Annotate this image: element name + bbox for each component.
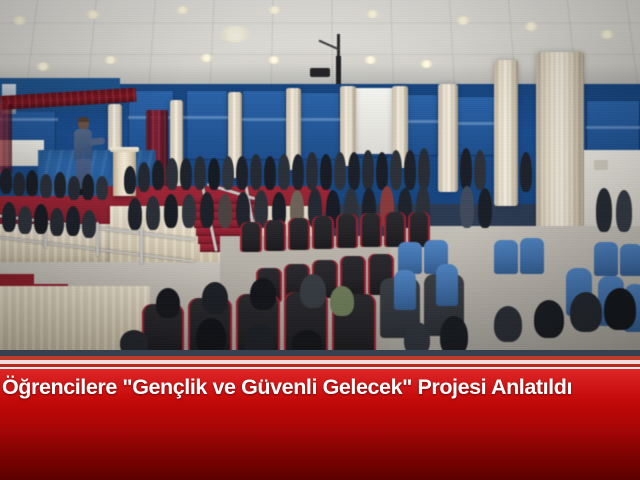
audience-person-foreground — [534, 300, 564, 338]
audience-person — [218, 194, 232, 228]
downlight-icon — [176, 6, 189, 14]
headline-text: Öğrencilere "Gençlik ve Güvenli Gelecek"… — [2, 374, 640, 400]
news-photo-card: Öğrencilere "Gençlik ve Güvenli Gelecek"… — [0, 0, 640, 480]
seat — [336, 214, 358, 248]
downlight-icon — [364, 56, 377, 64]
wall-trim-line — [452, 122, 500, 125]
downlight-icon — [104, 56, 117, 64]
speaker-hair — [78, 117, 89, 122]
audience-person-foreground — [494, 306, 522, 342]
audience-person — [200, 192, 214, 228]
downlight-icon — [524, 22, 538, 31]
downlight-icon — [420, 60, 433, 68]
audience-person — [182, 194, 196, 228]
projection-screen — [356, 88, 396, 154]
auditorium-photo — [0, 0, 640, 356]
downlight-icon — [268, 6, 281, 14]
seat — [394, 270, 416, 310]
downlight-icon — [200, 54, 213, 62]
audience-person — [50, 208, 64, 236]
downlight-icon — [86, 10, 100, 19]
audience-person-foreground — [604, 288, 636, 330]
downlight-icon — [268, 56, 280, 64]
downlight-icon — [12, 16, 27, 25]
audience-person-foreground — [570, 292, 602, 332]
wall-trim-line — [586, 126, 640, 129]
audience-person-foreground — [330, 286, 354, 316]
downlight-icon — [456, 16, 470, 25]
audience-person-foreground — [202, 282, 228, 314]
audience-person-foreground — [300, 274, 326, 308]
seat — [436, 264, 458, 306]
audience-person — [164, 194, 178, 228]
headline-banner: Öğrencilere "Gençlik ve Güvenli Gelecek"… — [0, 369, 640, 480]
audience-person-foreground — [250, 278, 276, 310]
downlight-icon — [218, 26, 252, 42]
audience-person — [128, 198, 142, 230]
projector-icon — [310, 68, 330, 77]
downlight-icon — [36, 62, 50, 71]
audience-person — [2, 202, 16, 232]
audience-person — [34, 204, 48, 234]
audience-person — [146, 196, 160, 230]
audience-person — [82, 210, 96, 238]
deck-step — [0, 274, 34, 286]
seat — [360, 213, 382, 247]
audience-person — [66, 206, 80, 236]
audience-person-foreground — [156, 288, 180, 318]
audience-person — [18, 206, 32, 234]
seat — [312, 216, 334, 249]
downlight-icon — [600, 30, 614, 39]
downlight-icon — [366, 10, 379, 18]
